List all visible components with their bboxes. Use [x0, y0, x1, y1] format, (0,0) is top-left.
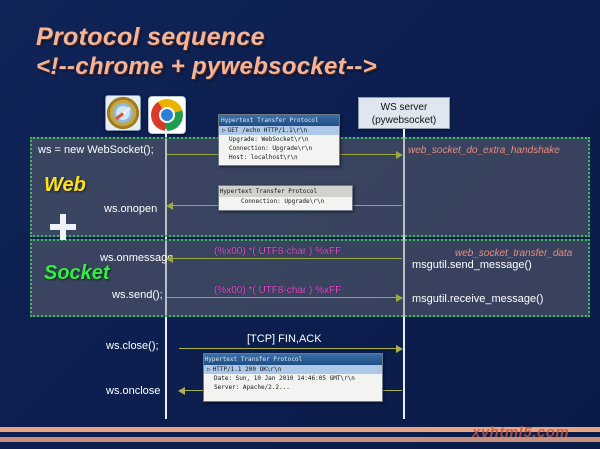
arrow-label-frame-down: (%x00) *( UTF8-char ) %xFF	[214, 246, 341, 257]
region-label-web: Web	[44, 174, 86, 197]
region-label-socket: Socket	[44, 262, 110, 285]
watermark: xvhtml5.com	[472, 424, 569, 441]
server-call-send-message: msgutil.send_message()	[412, 259, 532, 271]
client-call-close: ws.close();	[106, 340, 159, 352]
packet-title: ▽Hypertext Transfer Protocol	[219, 186, 352, 197]
arrow-frame-to-client	[167, 258, 402, 259]
arrow-label-fin-ack: [TCP] FIN,ACK	[247, 333, 322, 345]
server-handler-transfer: web_socket_transfer_data	[455, 248, 572, 259]
packet-row[interactable]: Connection: Upgrade\r\n	[219, 144, 339, 153]
client-call-new-websocket: ws = new WebSocket();	[38, 144, 154, 156]
expander-icon[interactable]: ▷	[207, 365, 211, 374]
packet-row[interactable]: Date: Sun, 10 Jan 2010 14:46:05 GMT\r\n	[204, 374, 382, 383]
packet-row-text: HTTP/1.1 200 OK\r\n	[213, 366, 282, 373]
packet-detail-handshake-response[interactable]: ▽Hypertext Transfer Protocol ▷HTTP/1.1 2…	[203, 353, 383, 402]
ws-server-title: WS server	[359, 101, 449, 114]
arrow-fin-ack-request	[179, 348, 402, 349]
safari-icon	[105, 95, 141, 131]
packet-detail-response-upgrade[interactable]: ▽Hypertext Transfer Protocol Connection:…	[218, 185, 353, 211]
packet-row[interactable]: Host: localhost\r\n	[219, 153, 339, 162]
packet-title-text: Hypertext Transfer Protocol	[220, 188, 318, 195]
packet-row[interactable]: Upgrade: WebSocket\r\n	[219, 135, 339, 144]
title-line-1: Protocol sequence	[36, 23, 265, 51]
packet-row[interactable]: Connection: Upgrade\r\n	[219, 197, 352, 206]
client-call-onclose: ws.onclose	[106, 385, 160, 397]
expander-icon[interactable]: ▷	[222, 126, 226, 135]
slide-canvas: Protocol sequence <!--chrome + pywebsock…	[0, 0, 600, 449]
chrome-icon	[148, 96, 186, 134]
packet-row-text: GET /echo HTTP/1.1\r\n	[228, 127, 307, 134]
client-call-onmessage: ws.onmessage	[100, 252, 173, 264]
packet-title-text: Hypertext Transfer Protocol	[205, 356, 303, 363]
ws-server-box: WS server (pywebsocket)	[358, 97, 450, 129]
packet-detail-request[interactable]: Hypertext Transfer Protocol ▷GET /echo H…	[218, 114, 340, 166]
arrow-label-frame-up: (%x00) *( UTF8-char ) %xFF	[214, 285, 341, 296]
packet-row[interactable]: ▷HTTP/1.1 200 OK\r\n	[204, 365, 382, 374]
packet-row[interactable]: Server: Apache/2.2...	[204, 383, 382, 392]
page-title: Protocol sequence <!--chrome + pywebsock…	[36, 22, 576, 82]
plus-icon	[50, 214, 76, 240]
ws-server-subtitle: (pywebsocket)	[359, 114, 449, 127]
title-line-2: <!--chrome + pywebsocket-->	[36, 52, 576, 82]
packet-row[interactable]: ▷GET /echo HTTP/1.1\r\n	[219, 126, 339, 135]
arrow-frame-to-server	[167, 297, 402, 298]
packet-title: ▽Hypertext Transfer Protocol	[204, 354, 382, 365]
client-call-onopen: ws.onopen	[104, 203, 157, 215]
packet-title: Hypertext Transfer Protocol	[219, 115, 339, 126]
server-call-receive-message: msgutil.receive_message()	[412, 293, 543, 305]
client-call-send: ws.send();	[112, 289, 163, 301]
server-handler-handshake: web_socket_do_extra_handshake	[408, 145, 560, 156]
